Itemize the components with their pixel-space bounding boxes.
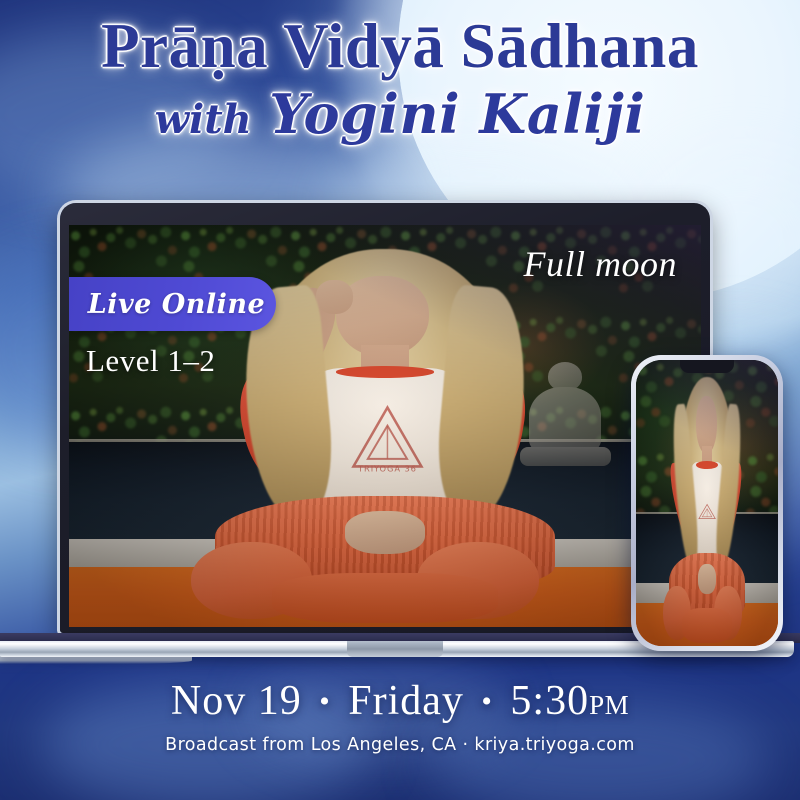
page-title: Prāṇa Vidyā Sādhana <box>0 14 800 80</box>
event-weekday: Friday <box>348 678 464 724</box>
triyoga-logo-icon <box>698 487 716 536</box>
event-details-footer: Nov 19 • Friday • 5:30PM Broadcast from … <box>0 678 800 755</box>
poster-canvas: Prāṇa Vidyā Sādhana with Yogini Kaliji <box>0 0 800 800</box>
broadcast-info: Broadcast from Los Angeles, CA · kriya.t… <box>0 735 800 755</box>
yogini-figure <box>662 371 753 646</box>
separator-dot: • <box>475 685 499 718</box>
resting-hand <box>698 564 716 594</box>
phone-notch <box>680 360 734 373</box>
svg-text:TRIYOGA 36: TRIYOGA 36 <box>357 464 417 473</box>
subtitle-presenter: with Yogini Kaliji <box>0 86 800 143</box>
shirt-collar <box>696 461 718 469</box>
full-moon-label: Full moon <box>524 243 678 285</box>
laptop-mockup: TRIYOGA 36 Live Online <box>60 203 710 633</box>
yoga-photo-scene-phone <box>636 360 778 646</box>
resting-hand <box>345 511 426 553</box>
live-online-badge: Live Online <box>69 277 276 331</box>
live-online-label: Live Online <box>80 289 265 320</box>
crossed-legs <box>682 608 733 644</box>
mudra-hand <box>316 280 352 315</box>
event-datetime: Nov 19 • Friday • 5:30PM <box>0 678 800 724</box>
separator-dot: • <box>313 685 337 718</box>
event-time: 5:30 <box>510 678 589 724</box>
triyoga-logo-icon: TRIYOGA 36 <box>347 403 428 472</box>
phone-mockup <box>631 355 783 651</box>
subtitle-with-word: with <box>155 96 252 143</box>
shirt-collar <box>336 366 433 378</box>
laptop-screen: TRIYOGA 36 Live Online <box>69 225 701 627</box>
event-date: Nov 19 <box>171 678 302 724</box>
phone-screen <box>636 360 778 646</box>
title-block: Prāṇa Vidyā Sādhana with Yogini Kaliji <box>0 14 800 142</box>
level-label: Level 1–2 <box>86 343 215 379</box>
crossed-legs <box>272 573 499 623</box>
presenter-name: Yogini Kaliji <box>269 82 645 146</box>
event-time-meridiem: PM <box>589 690 629 720</box>
